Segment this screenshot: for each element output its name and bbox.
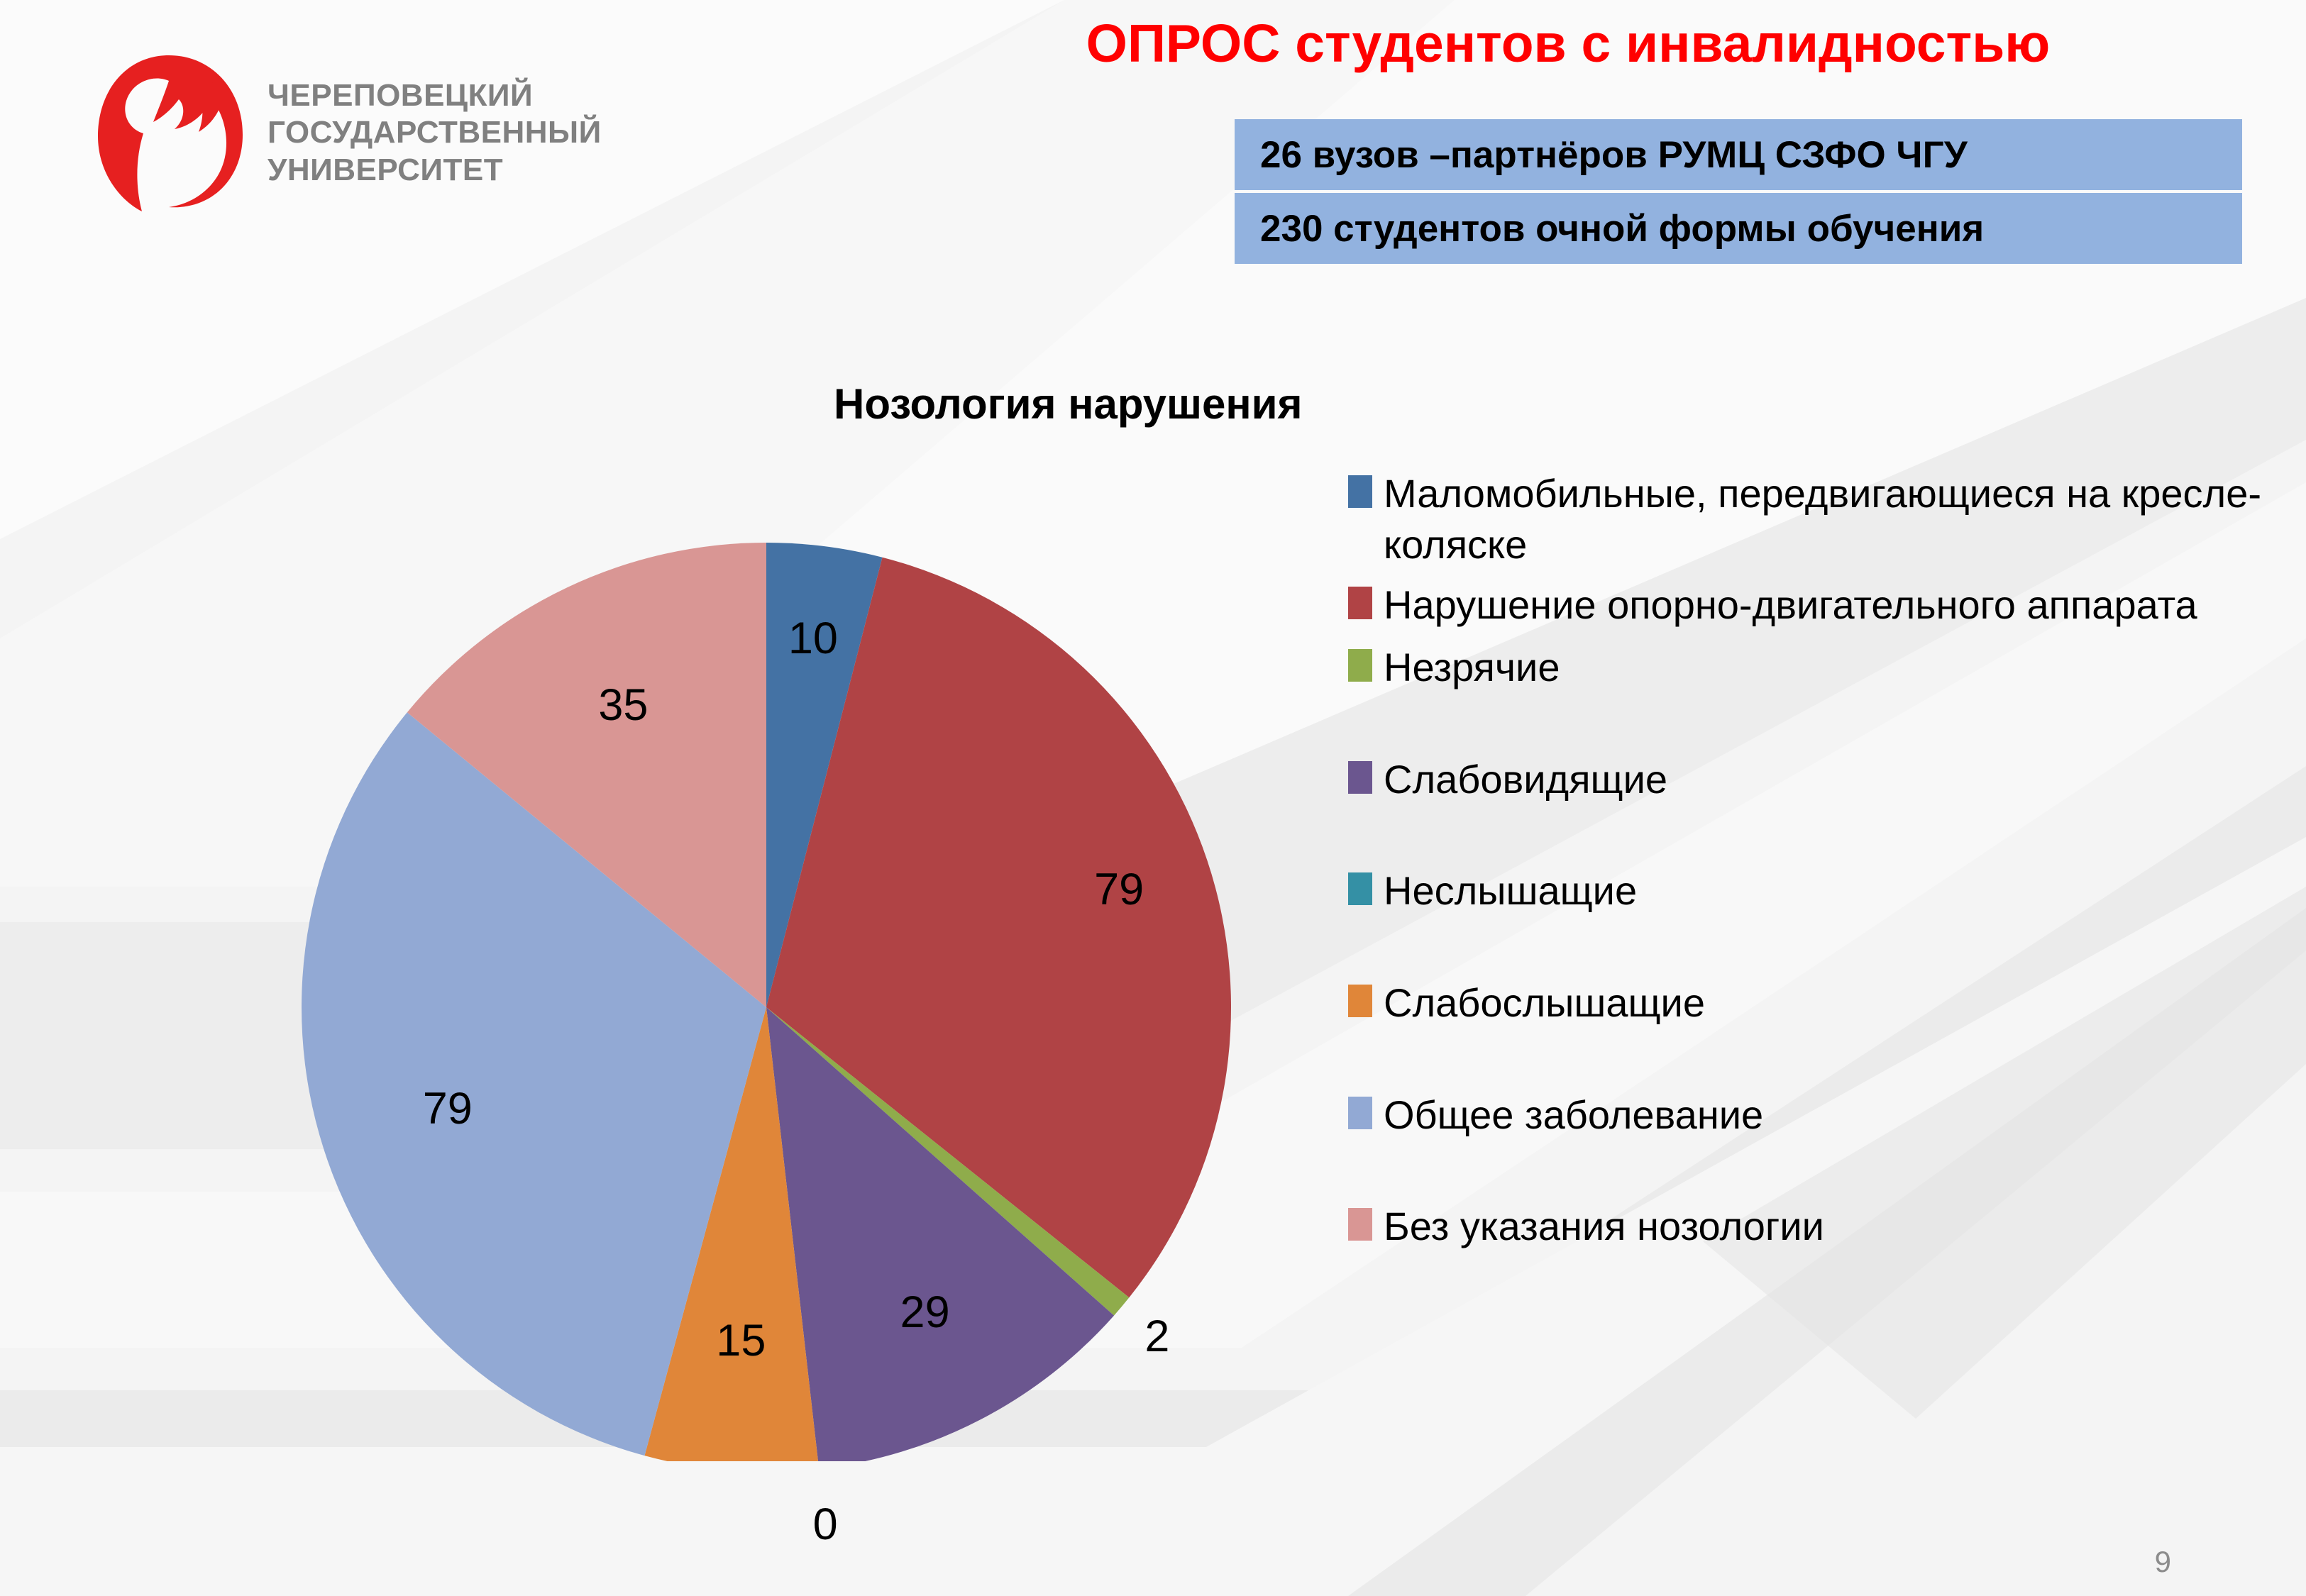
legend-item-label: Неслышащие xyxy=(1384,865,1637,916)
legend-item-label: Нарушение опорно-двигательного аппарата xyxy=(1384,580,2197,631)
pie-data-label: 35 xyxy=(598,680,648,731)
legend-item-label: Незрячие xyxy=(1384,642,1560,693)
legend-swatch-icon xyxy=(1348,985,1372,1017)
logo-line-1: ЧЕРЕПОВЕЦКИЙ xyxy=(267,77,602,114)
legend-swatch-icon xyxy=(1348,649,1372,682)
callout-box-students: 230 студентов очной формы обучения xyxy=(1235,193,2242,264)
legend-item-label: Слабовидящие xyxy=(1384,754,1667,805)
legend-item[interactable]: Общее заболевание xyxy=(1348,1090,2292,1141)
legend-item[interactable]: Нарушение опорно-двигательного аппарата xyxy=(1348,580,2292,631)
legend-item-label: Маломобильные, передвигающиеся на кресле… xyxy=(1384,468,2292,570)
logo-wordmark: ЧЕРЕПОВЕЦКИЙ ГОСУДАРСТВЕННЫЙ УНИВЕРСИТЕТ xyxy=(267,77,602,189)
legend-item[interactable]: Слабовидящие xyxy=(1348,754,2292,805)
legend-swatch-icon xyxy=(1348,761,1372,794)
legend-item[interactable]: Без указания нозологии xyxy=(1348,1201,2292,1252)
logo-line-2: ГОСУДАРСТВЕННЫЙ xyxy=(267,114,602,151)
chart-legend: Маломобильные, передвигающиеся на кресле… xyxy=(1348,468,2292,1252)
legend-item[interactable]: Незрячие xyxy=(1348,642,2292,693)
legend-swatch-icon xyxy=(1348,1208,1372,1241)
legend-item-label: Слабослышащие xyxy=(1384,977,1705,1029)
chart-title: Нозология нарушения xyxy=(834,379,1303,428)
legend-item-label: Без указания нозологии xyxy=(1384,1201,1824,1252)
pie-data-label: 2 xyxy=(1144,1311,1169,1362)
page-number: 9 xyxy=(2155,1545,2171,1579)
legend-swatch-icon xyxy=(1348,475,1372,508)
slide-title: ОПРОС студентов с инвалидностью xyxy=(894,16,2242,72)
legend-item[interactable]: Слабослышащие xyxy=(1348,977,2292,1029)
legend-swatch-icon xyxy=(1348,1097,1372,1129)
pie-data-label: 79 xyxy=(423,1083,473,1134)
legend-item[interactable]: Неслышащие xyxy=(1348,865,2292,916)
callout-box-universities: 26 вузов –партнёров РУМЦ СЗФО ЧГУ xyxy=(1235,119,2242,190)
university-logo: ЧЕРЕПОВЕЦКИЙ ГОСУДАРСТВЕННЫЙ УНИВЕРСИТЕТ xyxy=(85,50,602,216)
legend-item[interactable]: Маломобильные, передвигающиеся на кресле… xyxy=(1348,468,2292,570)
pie-data-label: 15 xyxy=(716,1315,766,1366)
pie-data-label: 0 xyxy=(813,1499,838,1550)
callout-text-students: 230 студентов очной формы обучения xyxy=(1260,207,1984,250)
legend-item-label: Общее заболевание xyxy=(1384,1090,1763,1141)
logo-line-3: УНИВЕРСИТЕТ xyxy=(267,152,602,189)
legend-swatch-icon xyxy=(1348,587,1372,619)
pie-data-label: 79 xyxy=(1094,864,1144,915)
chsu-logo-icon xyxy=(85,50,252,216)
callout-text-universities: 26 вузов –партнёров РУМЦ СЗФО ЧГУ xyxy=(1260,133,1968,177)
pie-data-label: 10 xyxy=(788,613,838,664)
legend-swatch-icon xyxy=(1348,872,1372,905)
pie-data-label: 29 xyxy=(900,1287,950,1338)
pie-chart: 10792290157935 xyxy=(270,539,1263,1461)
